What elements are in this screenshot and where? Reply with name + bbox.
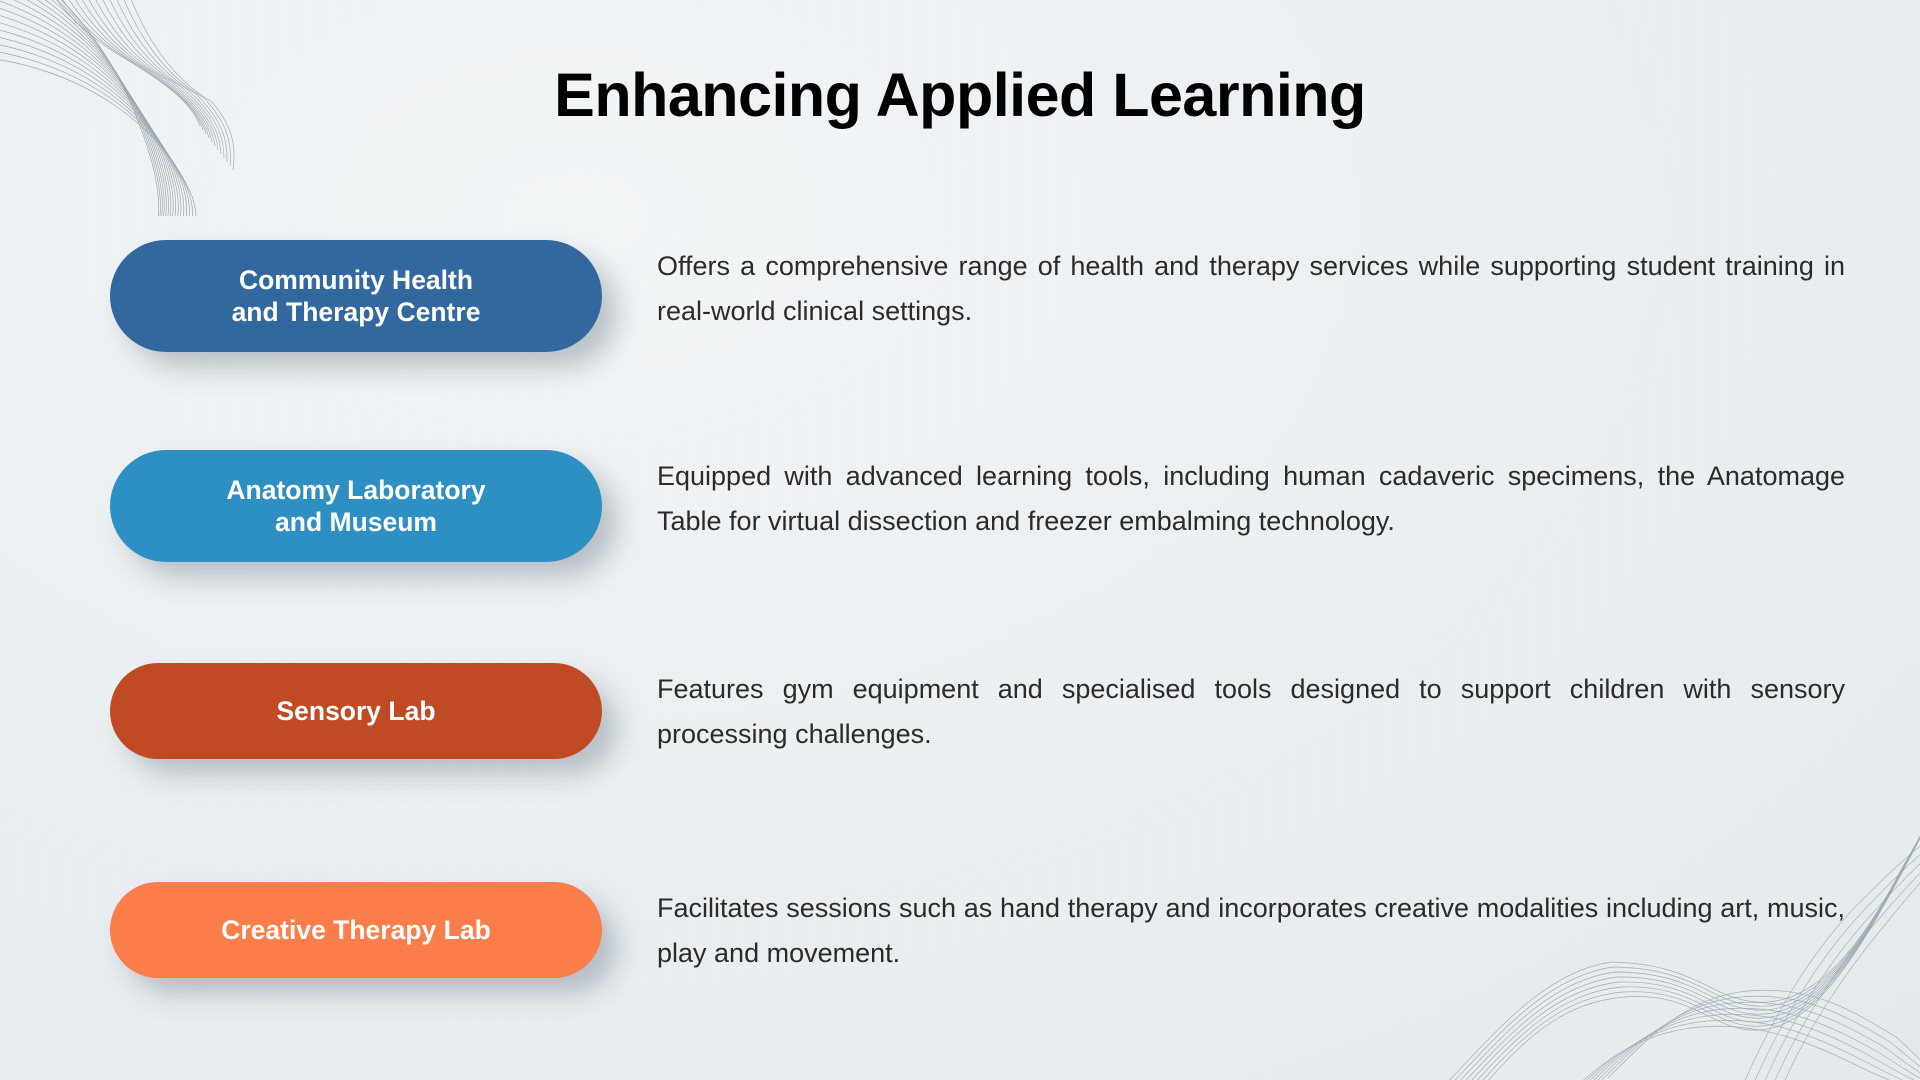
pill-label: Sensory Lab bbox=[276, 695, 435, 727]
pill-label: Community Health and Therapy Centre bbox=[232, 264, 481, 329]
pill-label-line-2: and Therapy Centre bbox=[232, 296, 481, 328]
pill-anatomy-laboratory-and-museum[interactable]: Anatomy Laboratory and Museum bbox=[110, 450, 602, 562]
slide-title: Enhancing Applied Learning bbox=[0, 62, 1920, 129]
pill-label-line-1: Sensory Lab bbox=[276, 695, 435, 727]
description-text: Offers a comprehensive range of health a… bbox=[657, 240, 1845, 333]
pill-sensory-lab[interactable]: Sensory Lab bbox=[110, 663, 602, 759]
description-text: Equipped with advanced learning tools, i… bbox=[657, 450, 1845, 543]
pill-label-line-1: Community Health bbox=[232, 264, 481, 296]
content-row: Anatomy Laboratory and Museum Equipped w… bbox=[110, 450, 1845, 562]
pill-label: Anatomy Laboratory and Museum bbox=[226, 474, 485, 539]
pill-label-line-1: Creative Therapy Lab bbox=[221, 914, 491, 946]
description-text: Features gym equipment and specialised t… bbox=[657, 663, 1845, 756]
pill-community-health-and-therapy-centre[interactable]: Community Health and Therapy Centre bbox=[110, 240, 602, 352]
content-row: Creative Therapy Lab Facilitates session… bbox=[110, 882, 1845, 978]
content-row: Sensory Lab Features gym equipment and s… bbox=[110, 663, 1845, 759]
pill-creative-therapy-lab[interactable]: Creative Therapy Lab bbox=[110, 882, 602, 978]
pill-label-line-1: Anatomy Laboratory bbox=[226, 474, 485, 506]
content-row: Community Health and Therapy Centre Offe… bbox=[110, 240, 1845, 352]
description-text: Facilitates sessions such as hand therap… bbox=[657, 882, 1845, 975]
pill-label-line-2: and Museum bbox=[226, 506, 485, 538]
pill-label: Creative Therapy Lab bbox=[221, 914, 491, 946]
slide-canvas: Enhancing Applied Learning Community Hea… bbox=[0, 0, 1920, 1080]
